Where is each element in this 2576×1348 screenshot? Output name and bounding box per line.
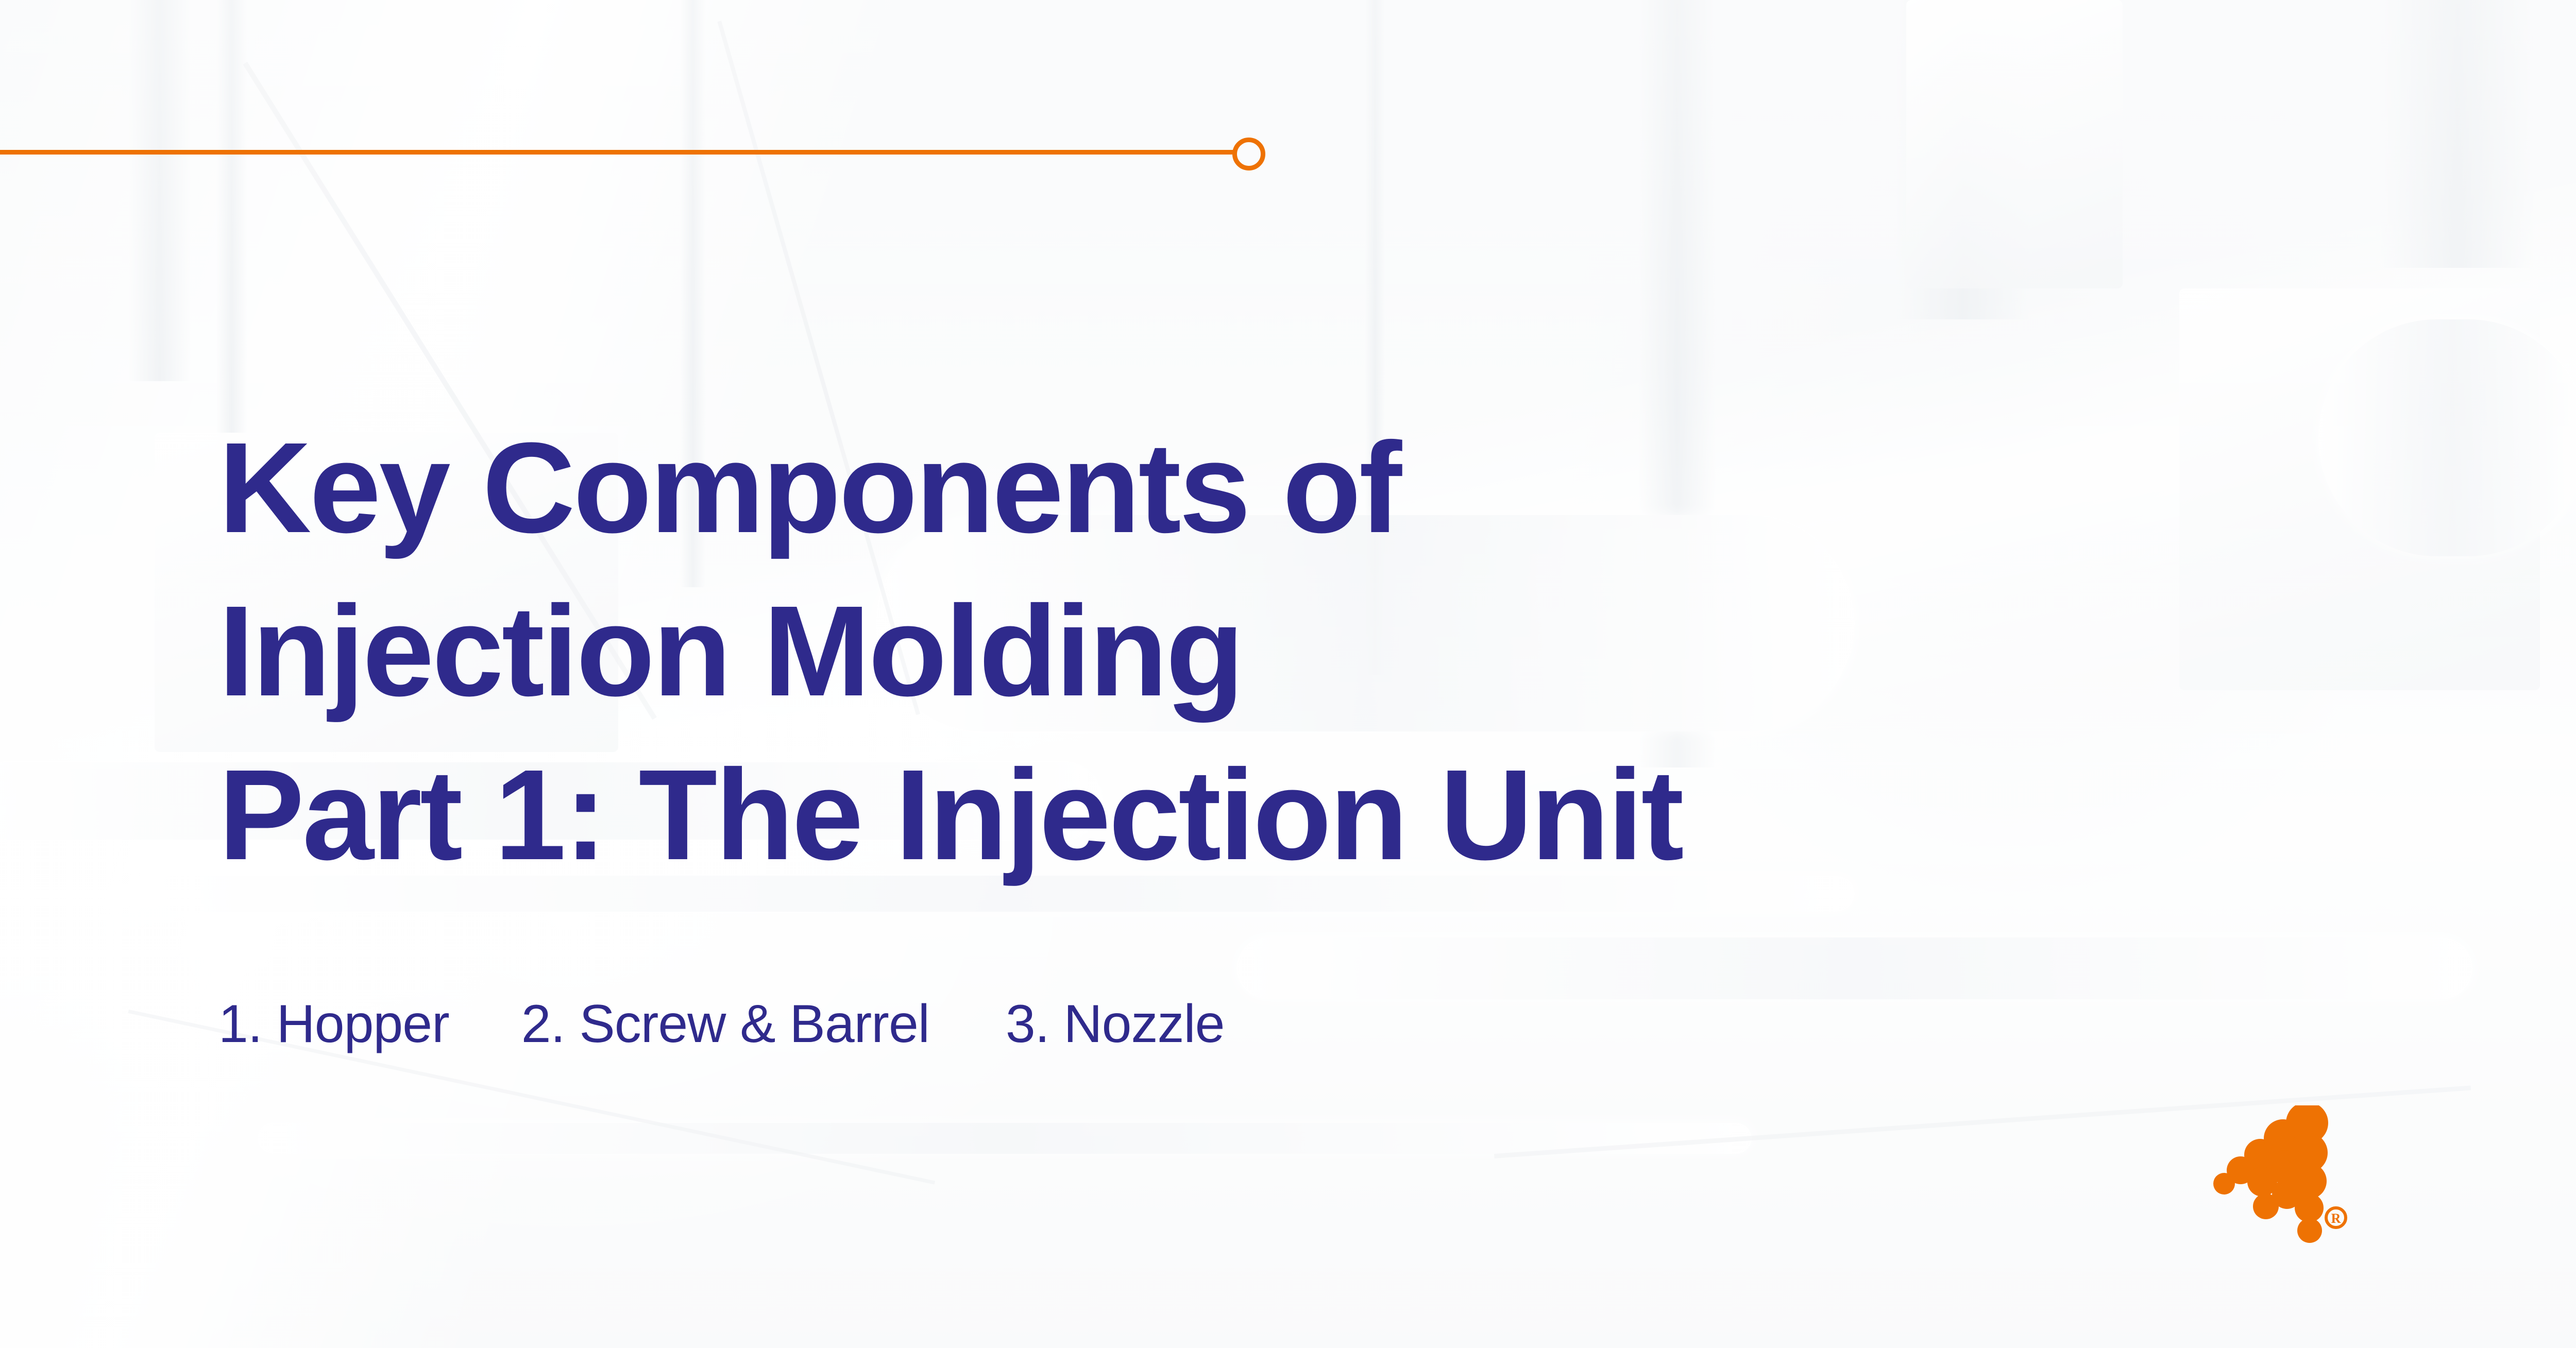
orange-divider: [0, 144, 1267, 191]
component-item-hopper: 1. Hopper: [218, 997, 449, 1051]
slide-root: Key Components of Injection Molding Part…: [0, 0, 2576, 1348]
page-title: Key Components of Injection Molding Part…: [218, 406, 2465, 897]
component-item-screw-and-barrel: 2. Screw & Barrel: [521, 997, 929, 1051]
title-line-3: Part 1: The Injection Unit: [218, 733, 2465, 897]
component-list: 1. Hopper 2. Screw & Barrel 3. Nozzle: [218, 997, 1224, 1051]
title-line-2: Injection Molding: [218, 569, 2465, 733]
divider-ring-icon: [1232, 138, 1265, 170]
registered-trademark-icon: R: [2326, 1208, 2346, 1227]
svg-text:R: R: [2331, 1211, 2341, 1226]
title-line-1: Key Components of: [218, 406, 2465, 570]
divider-line: [0, 150, 1236, 155]
orange-dot-arrow-icon: R: [2209, 1105, 2395, 1260]
brand-logo: R: [2209, 1105, 2395, 1260]
component-item-nozzle: 3. Nozzle: [1006, 997, 1225, 1051]
